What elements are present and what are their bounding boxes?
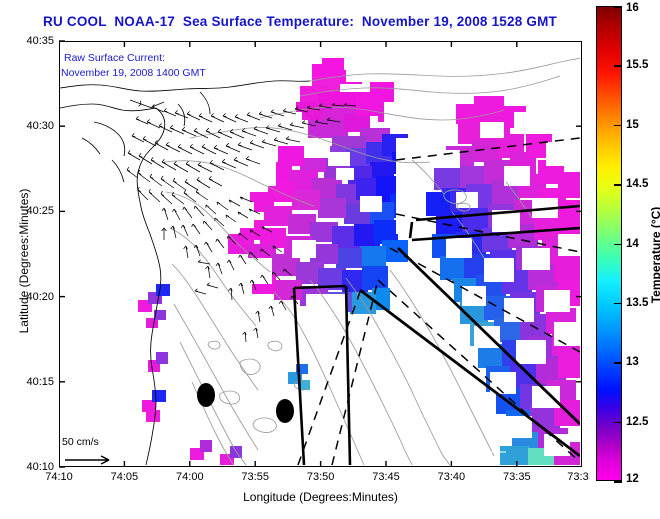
x-axis-label: Longitude (Degrees:Minutes) xyxy=(59,490,582,504)
colorbar-tick-label: 12.5 xyxy=(626,416,648,428)
colorbar-tick-label: 16 xyxy=(626,2,639,14)
colorbar-tick-label: 12 xyxy=(626,473,639,485)
colorbar-tick-label: 15.5 xyxy=(626,59,648,71)
colorbar-tick-label: 14.5 xyxy=(626,178,648,190)
colorbar-tick-label: 14 xyxy=(626,238,639,250)
y-axis-label: Latitude (Degrees:Minutes) xyxy=(17,151,31,371)
colorbar-tick-label: 13.5 xyxy=(626,297,648,309)
sst-map-figure: RU COOL NOAA-17 Sea Surface Temperature:… xyxy=(0,0,660,519)
colorbar-tick-label: 13 xyxy=(626,356,639,368)
colorbar-tick-label: 15 xyxy=(626,119,639,131)
axis-tick-marks xyxy=(0,0,660,519)
colorbar-label: Temperature (°C) xyxy=(649,165,660,345)
